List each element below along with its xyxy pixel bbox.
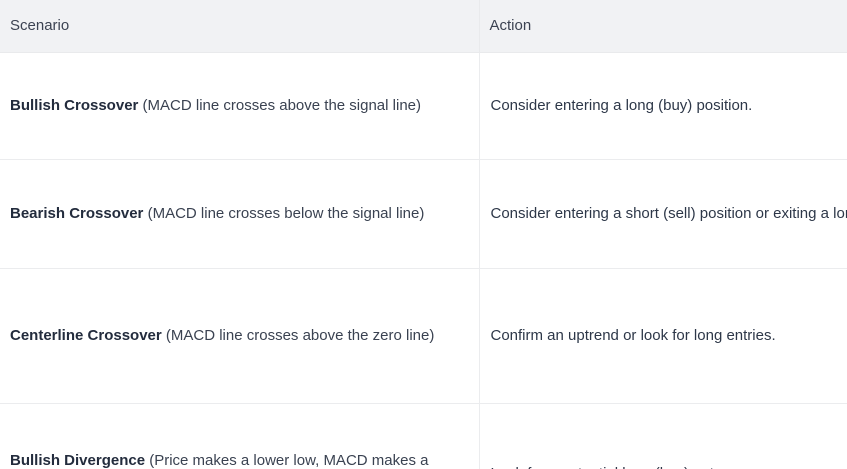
- column-header-scenario[interactable]: Scenario: [0, 0, 479, 53]
- cell-action: Consider entering a long (buy) position.: [479, 53, 847, 160]
- cell-action: Look for a potential long (buy) entry.: [479, 404, 847, 469]
- macd-scenarios-table: Scenario Action Bullish Crossover (MACD …: [0, 0, 847, 469]
- table-scroll-viewport[interactable]: Scenario Action Bullish Crossover (MACD …: [0, 0, 847, 469]
- cell-scenario: Bullish Divergence (Price makes a lower …: [0, 404, 479, 469]
- scenario-term: Centerline Crossover: [10, 327, 166, 344]
- cell-scenario: Centerline Crossover (MACD line crosses …: [0, 269, 479, 404]
- table-row: Bullish Divergence (Price makes a lower …: [0, 404, 847, 469]
- cell-action: Confirm an uptrend or look for long entr…: [479, 269, 847, 404]
- cell-action: Consider entering a short (sell) positio…: [479, 160, 847, 269]
- table-body: Bullish Crossover (MACD line crosses abo…: [0, 53, 847, 469]
- scenario-term: Bullish Crossover: [10, 97, 143, 114]
- table-row: Bearish Crossover (MACD line crosses bel…: [0, 160, 847, 269]
- scenario-description: (MACD line crosses above the signal line…: [143, 97, 421, 114]
- cell-scenario: Bearish Crossover (MACD line crosses bel…: [0, 160, 479, 269]
- cell-scenario: Bullish Crossover (MACD line crosses abo…: [0, 53, 479, 160]
- column-header-action[interactable]: Action: [479, 0, 847, 53]
- scenario-term: Bearish Crossover: [10, 205, 148, 222]
- table-header: Scenario Action: [0, 0, 847, 53]
- action-text: Look for a potential long (buy) entry.: [491, 465, 730, 469]
- table-row: Centerline Crossover (MACD line crosses …: [0, 269, 847, 404]
- scenario-description: (MACD line crosses above the zero line): [166, 327, 434, 344]
- action-text: Confirm an uptrend or look for long entr…: [491, 327, 776, 344]
- scenario-term: Bullish Divergence: [10, 452, 149, 469]
- scenario-description: (MACD line crosses below the signal line…: [148, 205, 425, 222]
- table-header-row: Scenario Action: [0, 0, 847, 53]
- table-row: Bullish Crossover (MACD line crosses abo…: [0, 53, 847, 160]
- action-text: Consider entering a short (sell) positio…: [491, 205, 847, 222]
- action-text: Consider entering a long (buy) position.: [491, 97, 753, 114]
